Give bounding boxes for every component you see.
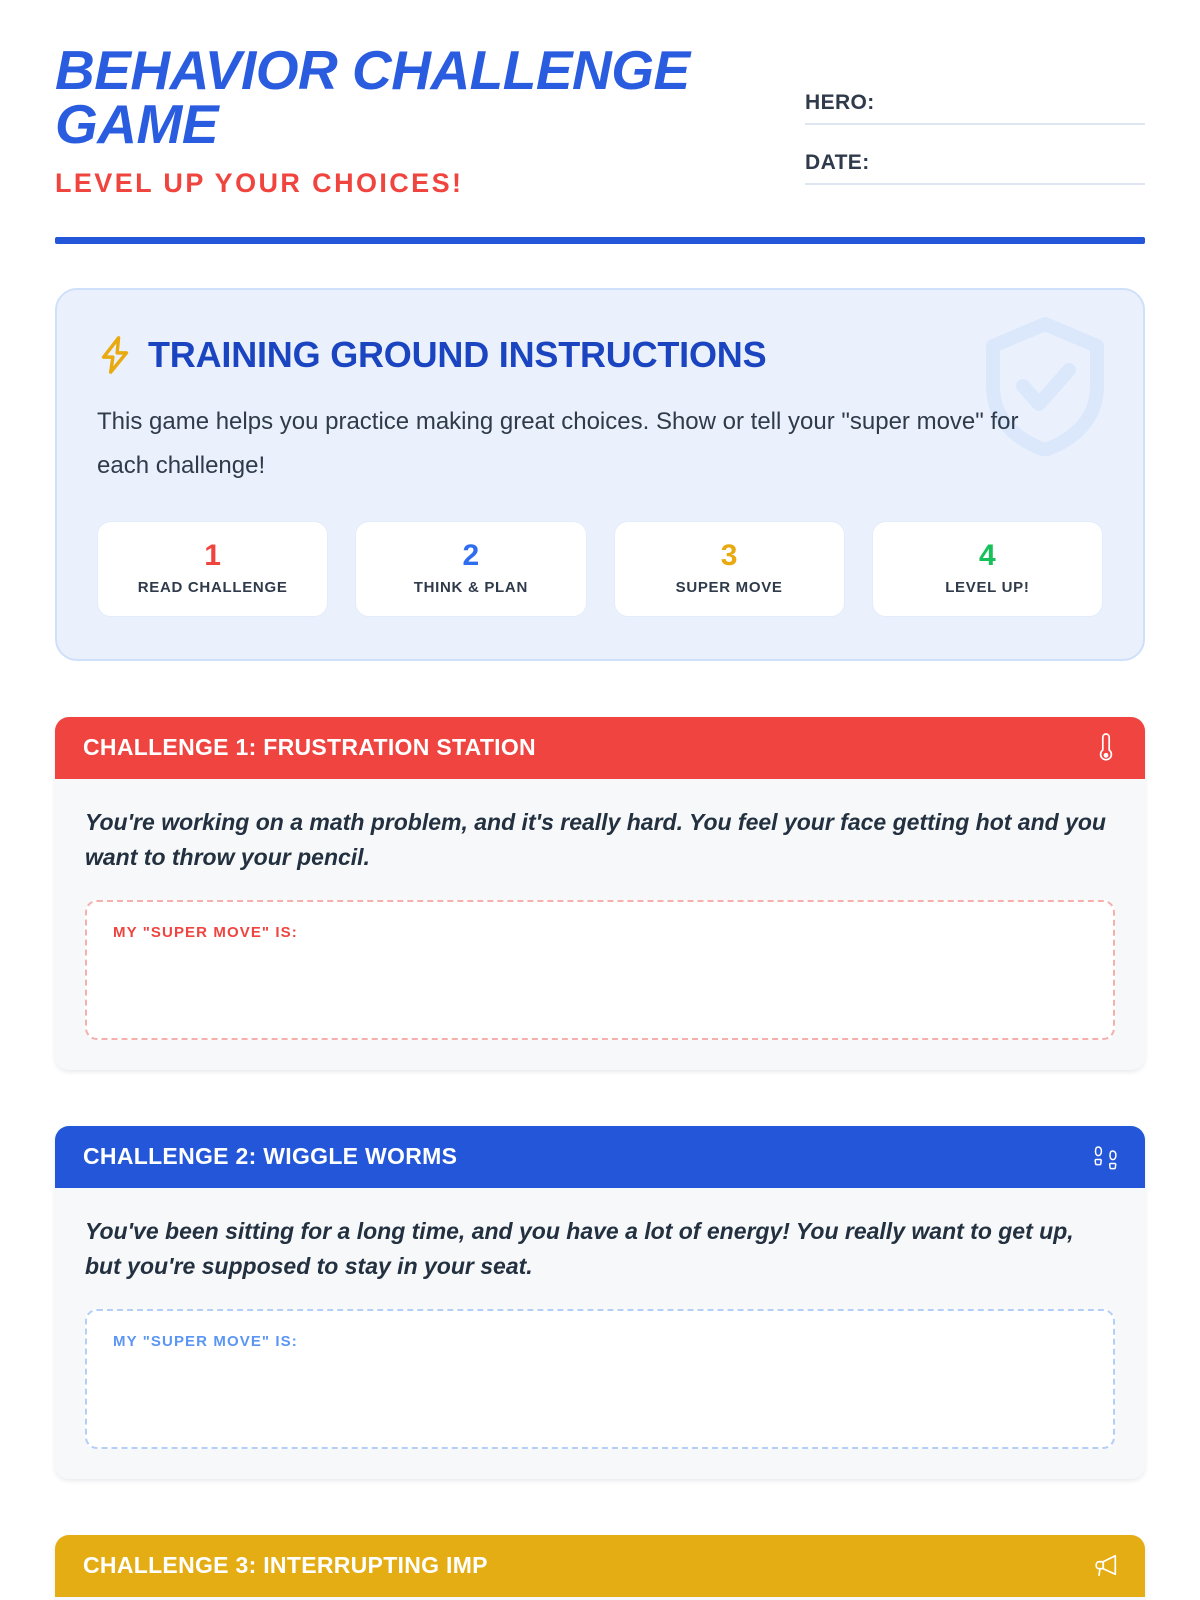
answer-label: MY "SUPER MOVE" IS:: [113, 924, 1087, 941]
answer-label: MY "SUPER MOVE" IS:: [113, 1333, 1087, 1350]
challenge-card-2: CHALLENGE 2: WIGGLE WORMS You've been si…: [55, 1126, 1145, 1479]
step-card-4[interactable]: 4 LEVEL UP!: [872, 521, 1103, 618]
instructions-body: This game helps you practice making grea…: [97, 400, 1047, 489]
answer-box[interactable]: MY "SUPER MOVE" IS:: [85, 900, 1115, 1040]
header-divider: [55, 237, 1145, 244]
instructions-panel: TRAINING GROUND INSTRUCTIONS This game h…: [55, 288, 1145, 661]
challenge-title: CHALLENGE 1: FRUSTRATION STATION: [83, 734, 536, 761]
challenge-scenario: You've been sitting for a long time, and…: [85, 1214, 1115, 1283]
step-number: 2: [364, 540, 577, 572]
hero-field[interactable]: HERO:: [805, 87, 1145, 125]
challenge-body: You've been sitting for a long time, and…: [55, 1188, 1145, 1479]
step-number: 3: [623, 540, 836, 572]
challenge-header: CHALLENGE 1: FRUSTRATION STATION: [55, 717, 1145, 779]
step-label: THINK & PLAN: [364, 579, 577, 596]
challenge-title: CHALLENGE 2: WIGGLE WORMS: [83, 1143, 457, 1170]
challenge-header: CHALLENGE 3: INTERRUPTING IMP: [55, 1535, 1145, 1597]
instructions-header: TRAINING GROUND INSTRUCTIONS: [97, 334, 1103, 376]
footprints-icon: [1093, 1141, 1119, 1171]
step-number: 1: [106, 540, 319, 572]
header-fields: HERO: DATE:: [795, 44, 1145, 185]
step-card-1[interactable]: 1 READ CHALLENGE: [97, 521, 328, 618]
step-number: 4: [881, 540, 1094, 572]
answer-box[interactable]: MY "SUPER MOVE" IS:: [85, 1309, 1115, 1449]
page-header: BEHAVIOR CHALLENGE GAME LEVEL UP YOUR CH…: [55, 0, 1145, 199]
header-title-block: BEHAVIOR CHALLENGE GAME LEVEL UP YOUR CH…: [55, 44, 795, 199]
challenge-body: You're working on a math problem, and it…: [55, 779, 1145, 1070]
challenge-card-1: CHALLENGE 1: FRUSTRATION STATION You're …: [55, 717, 1145, 1070]
date-field-label: DATE:: [805, 151, 870, 174]
challenge-card-3: CHALLENGE 3: INTERRUPTING IMP MY "SUPER …: [55, 1535, 1145, 1600]
date-field[interactable]: DATE:: [805, 147, 1145, 185]
page-subtitle: LEVEL UP YOUR CHOICES!: [55, 168, 795, 199]
challenge-title: CHALLENGE 3: INTERRUPTING IMP: [83, 1552, 488, 1579]
lightning-bolt-icon: [97, 335, 133, 375]
instructions-title: TRAINING GROUND INSTRUCTIONS: [148, 334, 766, 376]
megaphone-icon: [1093, 1550, 1119, 1580]
step-label: LEVEL UP!: [881, 579, 1094, 596]
steps-list: 1 READ CHALLENGE 2 THINK & PLAN 3 SUPER …: [97, 521, 1103, 618]
worksheet-page: BEHAVIOR CHALLENGE GAME LEVEL UP YOUR CH…: [0, 0, 1200, 1600]
page-title: BEHAVIOR CHALLENGE GAME: [55, 44, 785, 152]
thermometer-icon: [1093, 732, 1119, 762]
step-label: SUPER MOVE: [623, 579, 836, 596]
step-label: READ CHALLENGE: [106, 579, 319, 596]
challenge-scenario: You're working on a math problem, and it…: [85, 805, 1115, 874]
step-card-3[interactable]: 3 SUPER MOVE: [614, 521, 845, 618]
hero-field-label: HERO:: [805, 91, 875, 114]
step-card-2[interactable]: 2 THINK & PLAN: [355, 521, 586, 618]
challenge-header: CHALLENGE 2: WIGGLE WORMS: [55, 1126, 1145, 1188]
